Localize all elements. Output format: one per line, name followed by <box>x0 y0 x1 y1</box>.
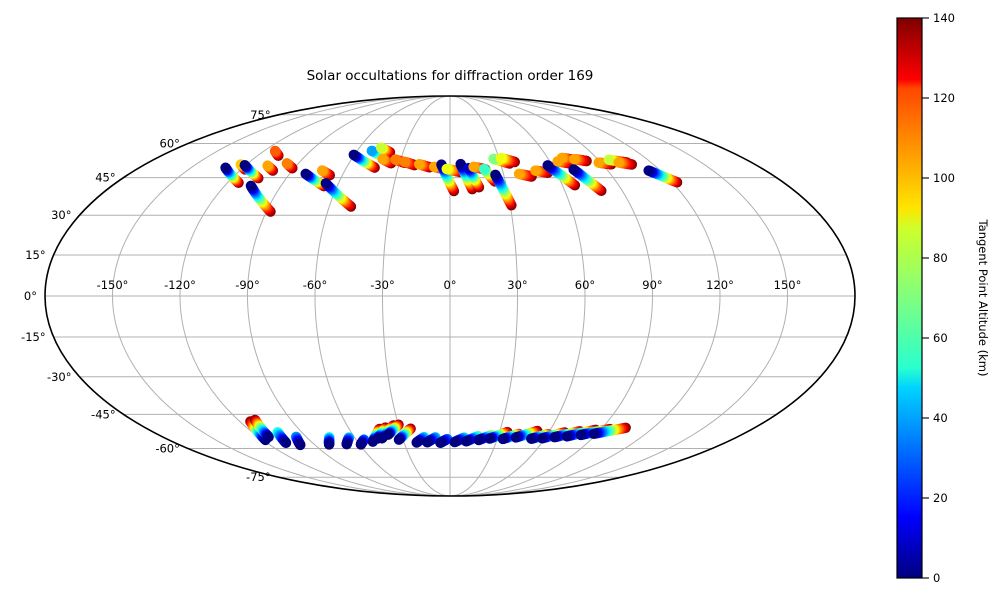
longitude-tick-label: 90° <box>642 278 662 292</box>
track-point <box>543 160 553 170</box>
track-point <box>643 165 653 175</box>
track-point <box>549 432 559 442</box>
colorbar-tick-label: 20 <box>933 491 948 505</box>
longitude-tick-label: 30° <box>507 278 527 292</box>
track-point <box>321 178 331 188</box>
track-point <box>613 157 623 167</box>
occultation-track <box>324 432 335 450</box>
longitude-tick-label: 0° <box>443 278 456 292</box>
track-point <box>390 154 400 164</box>
page-title: Solar occultations for diffraction order… <box>307 68 594 84</box>
colorbar-gradient <box>897 18 922 578</box>
track-point <box>281 438 291 448</box>
track-point <box>341 439 351 449</box>
track-point <box>383 429 393 439</box>
track-point <box>589 429 599 439</box>
track-point <box>367 146 377 156</box>
colorbar-tick-label: 100 <box>933 171 955 185</box>
figure-background <box>0 0 1000 600</box>
track-point <box>324 439 334 449</box>
track-point <box>490 170 500 180</box>
track-point <box>604 155 614 165</box>
track-point <box>537 433 547 443</box>
longitude-tick-label: -30° <box>370 278 395 292</box>
longitude-tick-label: -150° <box>97 278 129 292</box>
track-point <box>414 159 424 169</box>
track-point <box>530 165 540 175</box>
track-point <box>449 437 459 447</box>
track-point <box>263 432 273 442</box>
mollweide-map-figure: Solar occultations for diffraction order… <box>0 0 1000 600</box>
track-point <box>394 435 404 445</box>
track-point <box>593 157 603 167</box>
track-point <box>479 164 489 174</box>
track-point <box>435 438 445 448</box>
colorbar-tick-label: 120 <box>933 91 955 105</box>
track-point <box>377 154 387 164</box>
track-point <box>496 153 506 163</box>
track-point <box>220 163 230 173</box>
track-point <box>317 165 327 175</box>
track-point <box>349 150 359 160</box>
track-point <box>498 434 508 444</box>
track-point <box>262 160 272 170</box>
track-point <box>399 157 409 167</box>
longitude-tick-label: 60° <box>575 278 595 292</box>
track-point <box>526 434 536 444</box>
track-point <box>282 158 292 168</box>
longitude-tick-label: 120° <box>706 278 734 292</box>
colorbar-axis-label: Tangent Point Altitude (km) <box>976 219 990 377</box>
latitude-tick-label: -15° <box>21 330 46 344</box>
colorbar-tick-label: 0 <box>933 571 940 585</box>
longitude-tick-label: -120° <box>164 278 196 292</box>
colorbar-tick-label: 140 <box>933 11 955 25</box>
track-point <box>461 436 471 446</box>
colorbar-tick-label: 40 <box>933 411 948 425</box>
latitude-tick-label: -45° <box>91 407 116 421</box>
track-point <box>484 433 494 443</box>
figure-canvas: Solar occultations for diffraction order… <box>0 0 1000 600</box>
latitude-tick-label: -75° <box>246 470 271 484</box>
track-point <box>511 432 521 442</box>
longitude-tick-label: -90° <box>235 278 260 292</box>
latitude-tick-label: 30° <box>51 208 71 222</box>
track-point <box>468 162 478 172</box>
latitude-tick-label: 15° <box>25 248 45 262</box>
track-point <box>569 154 579 164</box>
track-point <box>411 437 421 447</box>
colorbar-tick-label: 80 <box>933 251 948 265</box>
latitude-tick-label: 0° <box>24 289 37 303</box>
track-point <box>514 169 524 179</box>
track-point <box>562 431 572 441</box>
latitude-tick-label: 60° <box>160 137 180 151</box>
latitude-tick-label: -30° <box>47 370 72 384</box>
track-point <box>441 164 451 174</box>
latitude-tick-label: 75° <box>250 108 270 122</box>
track-point <box>270 146 280 156</box>
longitude-tick-label: -60° <box>303 278 328 292</box>
track-point <box>356 439 366 449</box>
track-point <box>295 440 305 450</box>
track-point <box>422 437 432 447</box>
colorbar-tick-label: 60 <box>933 331 948 345</box>
longitude-tick-label: 150° <box>774 278 802 292</box>
track-point <box>473 435 483 445</box>
latitude-tick-label: -60° <box>155 442 180 456</box>
track-point <box>376 142 386 152</box>
latitude-tick-label: 45° <box>95 171 115 185</box>
track-point <box>576 430 586 440</box>
track-point <box>240 160 250 170</box>
track-point <box>568 164 578 174</box>
track-point <box>557 153 567 163</box>
track-point <box>300 169 310 179</box>
track-point <box>246 181 256 191</box>
